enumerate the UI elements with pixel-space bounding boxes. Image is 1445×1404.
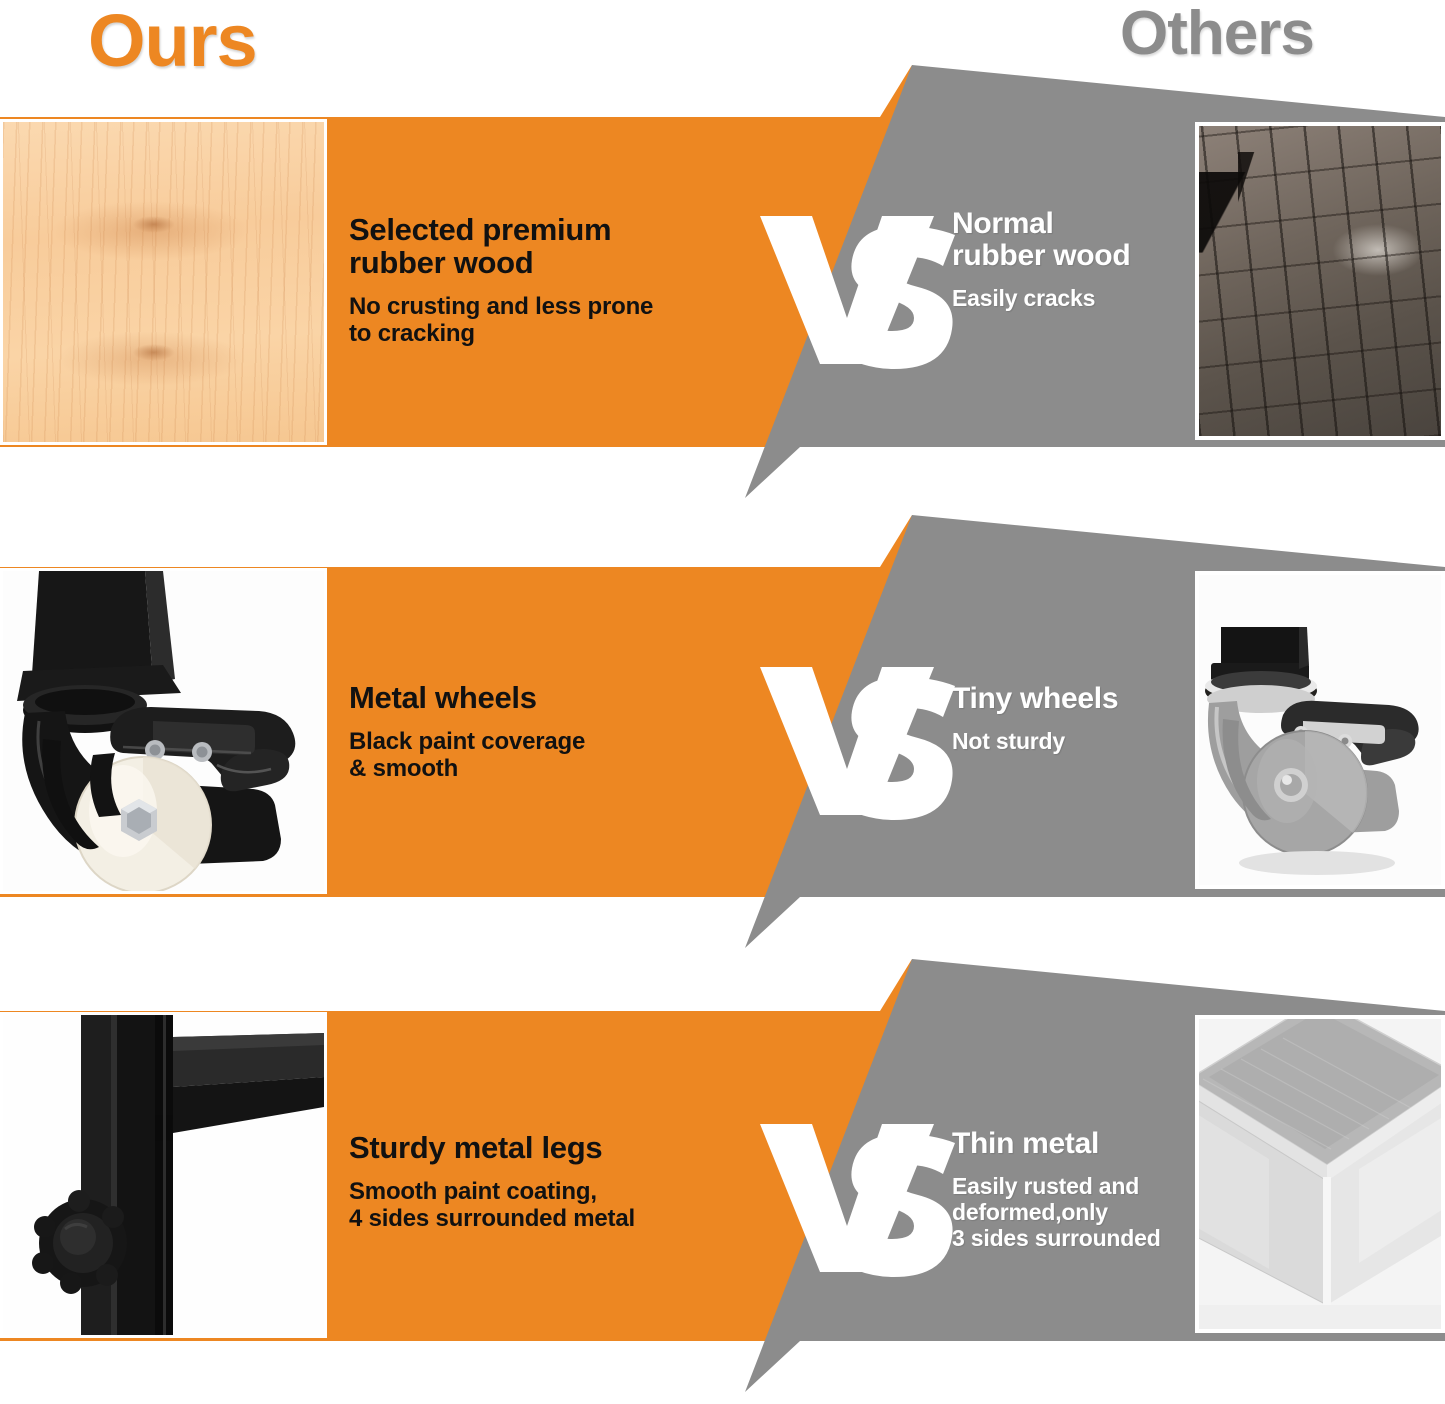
row-2-ours-image — [0, 568, 327, 894]
row-1-ours-subtitle: No crusting and less prone to cracking — [349, 293, 709, 348]
row-1-others-text: Normal rubber wood Easily cracks — [952, 208, 1202, 311]
row-3-others-image — [1195, 1015, 1445, 1333]
row-3-others-text: Thin metal Easily rusted and deformed,on… — [952, 1128, 1202, 1251]
row-2-vs-badge: VS — [752, 643, 982, 823]
silver-caster-wheel-photo — [1199, 575, 1441, 885]
row-3-others-title-line1: Thin metal — [952, 1127, 1099, 1160]
row-1-ours-title: Selected premium rubber wood — [349, 214, 709, 280]
row-1-others-title-line2: rubber wood — [952, 239, 1130, 272]
row-3-ours-image — [0, 1012, 327, 1338]
row-2-others-title-line1: Tiny wheels — [952, 682, 1118, 715]
row-2-others-title: Tiny wheels — [952, 683, 1202, 715]
row-2-others-text: Tiny wheels Not sturdy — [952, 683, 1202, 754]
row-1-ours-text: Selected premium rubber wood No crusting… — [349, 214, 709, 347]
row-1-ours-subtitle-line1: No crusting and less prone — [349, 293, 653, 320]
row-3-vs-badge: VS — [752, 1100, 982, 1280]
row-3-ours-subtitle-line1: Smooth paint coating, — [349, 1178, 597, 1205]
row-2-others-image — [1195, 571, 1445, 889]
row-3-ours-subtitle-line2: 4 sides surrounded metal — [349, 1205, 635, 1232]
row-2-others-subtitle-line1: Not sturdy — [952, 728, 1065, 754]
black-metal-leg-photo — [3, 1015, 324, 1335]
premium-rubber-wood-photo — [3, 122, 324, 442]
comparison-infographic: Ours Others Selected premium rubber wood… — [0, 0, 1445, 1382]
row-3-ours-title-line1: Sturdy metal legs — [349, 1130, 602, 1165]
row-1-others-image — [1195, 122, 1445, 440]
row-3-others-title: Thin metal — [952, 1128, 1202, 1160]
row-2-ours-title: Metal wheels — [349, 682, 709, 715]
black-caster-wheel-photo — [3, 571, 324, 891]
row-1-ours-title-line1: Selected premium — [349, 212, 611, 247]
cracked-wood-photo — [1199, 126, 1441, 436]
row-3-others-subtitle-line1: Easily rusted and — [952, 1173, 1139, 1199]
column-header-others: Others — [1120, 0, 1314, 69]
row-2-ours-text: Metal wheels Black paint coverage & smoo… — [349, 682, 709, 783]
row-1-ours-title-line2: rubber wood — [349, 245, 533, 280]
row-3-ours-text: Sturdy metal legs Smooth paint coating, … — [349, 1132, 749, 1233]
row-2-ours-subtitle-line2: & smooth — [349, 755, 458, 782]
row-1-others-subtitle: Easily cracks — [952, 285, 1202, 311]
row-1-ours-subtitle-line2: to cracking — [349, 320, 475, 347]
row-3-others-subtitle: Easily rusted and deformed,only 3 sides … — [952, 1173, 1202, 1252]
row-2-ours-title-line1: Metal wheels — [349, 680, 537, 715]
row-1-vs-badge: VS — [752, 192, 982, 372]
row-1-others-subtitle-line1: Easily cracks — [952, 285, 1095, 311]
stainless-steel-corner-photo — [1199, 1019, 1441, 1329]
row-1-others-title: Normal rubber wood — [952, 208, 1202, 272]
row-1-others-title-line1: Normal — [952, 207, 1054, 240]
row-2-others-subtitle: Not sturdy — [952, 728, 1202, 754]
row-3-ours-title: Sturdy metal legs — [349, 1132, 749, 1165]
row-1-ours-image — [0, 119, 327, 445]
row-3-ours-subtitle: Smooth paint coating, 4 sides surrounded… — [349, 1178, 749, 1233]
row-2-ours-subtitle: Black paint coverage & smooth — [349, 728, 709, 783]
row-3-others-subtitle-line3: 3 sides surrounded — [952, 1225, 1161, 1251]
row-3-others-subtitle-line2: deformed,only — [952, 1199, 1108, 1225]
row-2-ours-subtitle-line1: Black paint coverage — [349, 728, 585, 755]
